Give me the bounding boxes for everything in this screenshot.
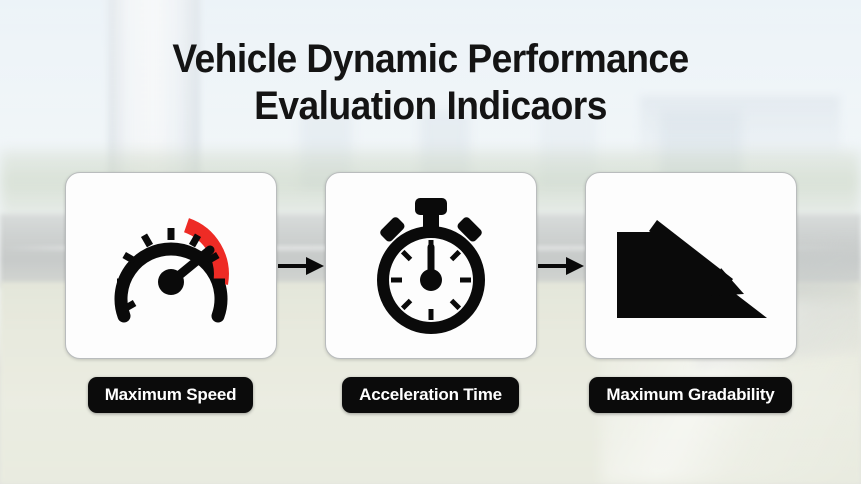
icon-card-maximum-speed[interactable]: [65, 172, 277, 359]
flow-label-acceleration-time: Acceleration Time: [342, 377, 519, 413]
flow-step-maximum-speed[interactable]: Maximum Speed: [65, 172, 277, 413]
speedometer-icon: [96, 200, 246, 332]
page-title-line-1: Vehicle Dynamic Performance: [30, 36, 831, 83]
slide-canvas: Vehicle Dynamic Performance Evaluation I…: [0, 0, 861, 484]
page-title-line-2: Evaluation Indicaors: [30, 83, 831, 130]
arrow-right-icon: [278, 255, 324, 277]
flow-step-maximum-gradability[interactable]: Maximum Gradability: [585, 172, 797, 413]
arrow-right-icon: [538, 255, 584, 277]
icon-card-acceleration-time[interactable]: [325, 172, 537, 359]
slope-gradient-arrow-icon: [611, 206, 771, 326]
flow-label-maximum-speed: Maximum Speed: [88, 377, 254, 413]
stopwatch-icon: [361, 195, 501, 337]
icon-card-maximum-gradability[interactable]: [585, 172, 797, 359]
flow-label-maximum-gradability: Maximum Gradability: [589, 377, 791, 413]
flow-connector-1: [277, 172, 325, 359]
flow-connector-2: [537, 172, 585, 359]
page-title: Vehicle Dynamic Performance Evaluation I…: [0, 36, 861, 130]
flow-step-acceleration-time[interactable]: Acceleration Time: [325, 172, 537, 413]
process-flow: Maximum Speed: [0, 172, 861, 413]
